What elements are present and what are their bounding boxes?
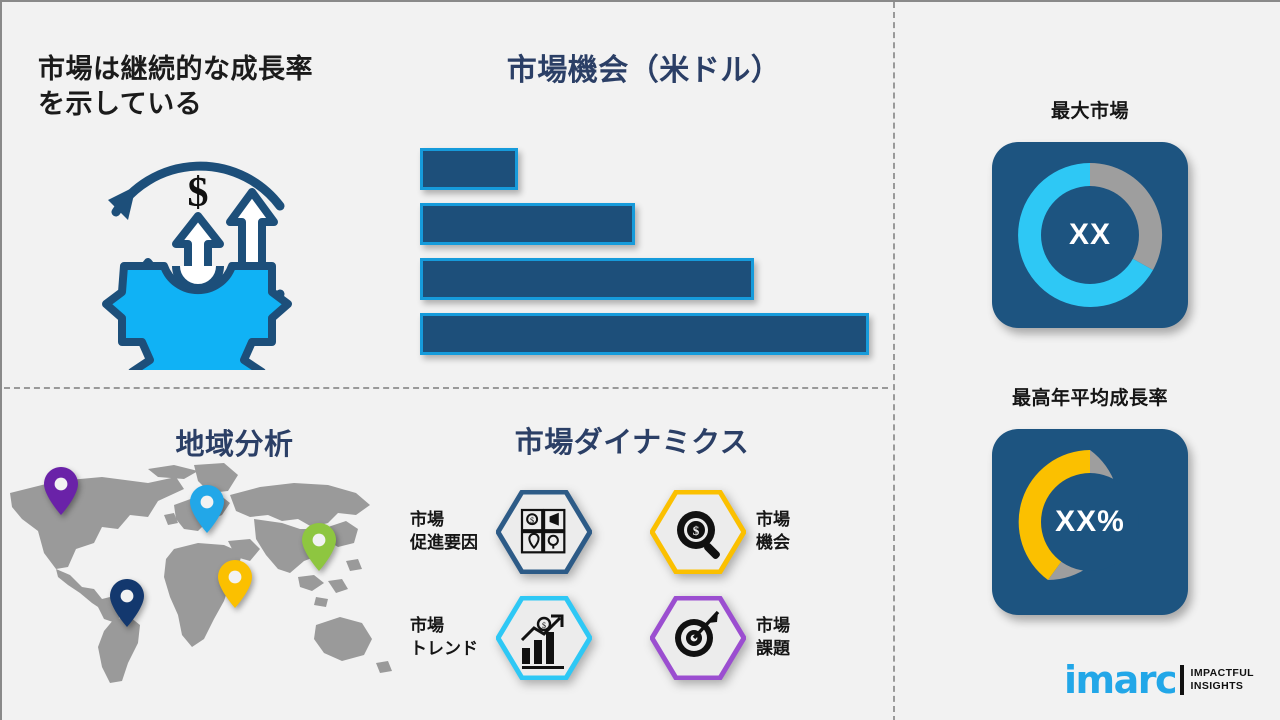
donut-card-highest-cagr: XX%	[992, 429, 1188, 615]
bar-1	[420, 148, 518, 190]
imarc-logo: imarc IMPACTFUL INSIGHTS	[1064, 657, 1254, 703]
dynamics-label-opportunities: 市場 機会	[756, 509, 842, 554]
logo-tagline: IMPACTFUL INSIGHTS	[1191, 667, 1254, 693]
donut-card-largest-market: XX	[992, 142, 1188, 328]
opportunity-title: 市場機会（米ドル）	[414, 52, 874, 90]
hex-challenges	[650, 596, 746, 680]
pin-europe	[190, 485, 224, 533]
svg-text:$: $	[693, 523, 700, 538]
donut-value-largest-market: XX	[992, 142, 1188, 328]
svg-text:$: $	[542, 621, 546, 630]
pin-south-america	[110, 579, 144, 627]
dynamics-label-drivers: 市場 促進要因	[410, 509, 496, 554]
world-map	[0, 457, 402, 689]
logo-divider	[1180, 665, 1183, 695]
dynamics-item-drivers[interactable]: 市場 促進要因 $	[410, 490, 592, 574]
bar-2	[420, 203, 635, 245]
growth-gear-arrows-icon: $	[80, 134, 316, 370]
bar-3	[420, 258, 754, 300]
market-opportunity-bar-chart	[420, 146, 880, 356]
pin-middle-east	[218, 560, 252, 608]
dynamics-item-challenges[interactable]: 市場 課題	[650, 596, 842, 680]
horizontal-divider	[4, 387, 888, 389]
dynamics-label-trends: 市場 トレンド	[410, 615, 496, 660]
logo-wordmark: imarc	[1064, 661, 1176, 699]
donut-title-largest-market: 最大市場	[950, 96, 1230, 123]
bar-4	[420, 313, 869, 355]
hex-drivers: $	[496, 490, 592, 574]
hex-trends: $	[496, 596, 592, 680]
donut-title-highest-cagr: 最高年平均成長率	[950, 383, 1230, 410]
dynamics-item-trends[interactable]: 市場 トレンド $	[410, 596, 592, 680]
infographic-canvas: 市場は継続的な成長率 を示している $ 市場機会（米ドル） 地域分析	[0, 0, 1280, 720]
growth-title: 市場は継続的な成長率 を示している	[38, 52, 388, 121]
market-dynamics-title: 市場ダイナミクス	[417, 425, 847, 462]
svg-text:$: $	[188, 170, 209, 216]
dynamics-item-opportunities[interactable]: $ 市場 機会	[650, 490, 842, 574]
donut-value-highest-cagr: XX%	[992, 429, 1188, 615]
pin-east-asia	[302, 523, 336, 571]
pin-north-america	[44, 467, 78, 515]
dynamics-label-challenges: 市場 課題	[756, 615, 842, 660]
svg-text:$: $	[530, 516, 534, 525]
vertical-divider	[893, 2, 895, 720]
hex-opportunities: $	[650, 490, 746, 574]
